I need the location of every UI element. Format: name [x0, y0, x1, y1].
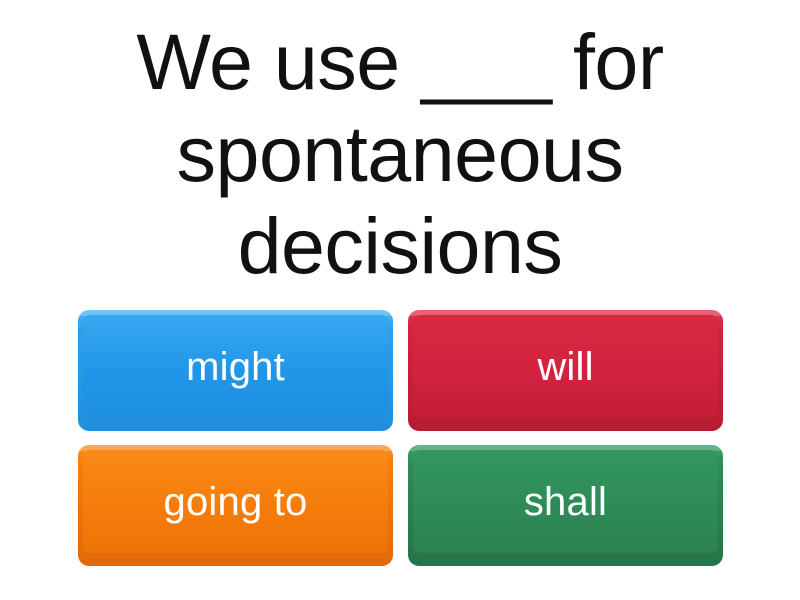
answer-options-grid: might will going to shall — [78, 310, 723, 566]
answer-face: going to — [83, 450, 388, 553]
answer-label: shall — [524, 482, 607, 522]
answer-label: will — [537, 347, 593, 387]
answer-option-going-to[interactable]: going to — [78, 445, 393, 566]
answer-face: will — [413, 315, 718, 418]
answer-option-shall[interactable]: shall — [408, 445, 723, 566]
answer-face: might — [83, 315, 388, 418]
answer-label: going to — [164, 482, 308, 522]
answer-option-might[interactable]: might — [78, 310, 393, 431]
quiz-slide: We use ___ for spontaneous decisions mig… — [0, 0, 800, 600]
answer-option-will[interactable]: will — [408, 310, 723, 431]
question-text: We use ___ for spontaneous decisions — [80, 0, 720, 292]
answer-label: might — [186, 347, 285, 387]
answer-face: shall — [413, 450, 718, 553]
